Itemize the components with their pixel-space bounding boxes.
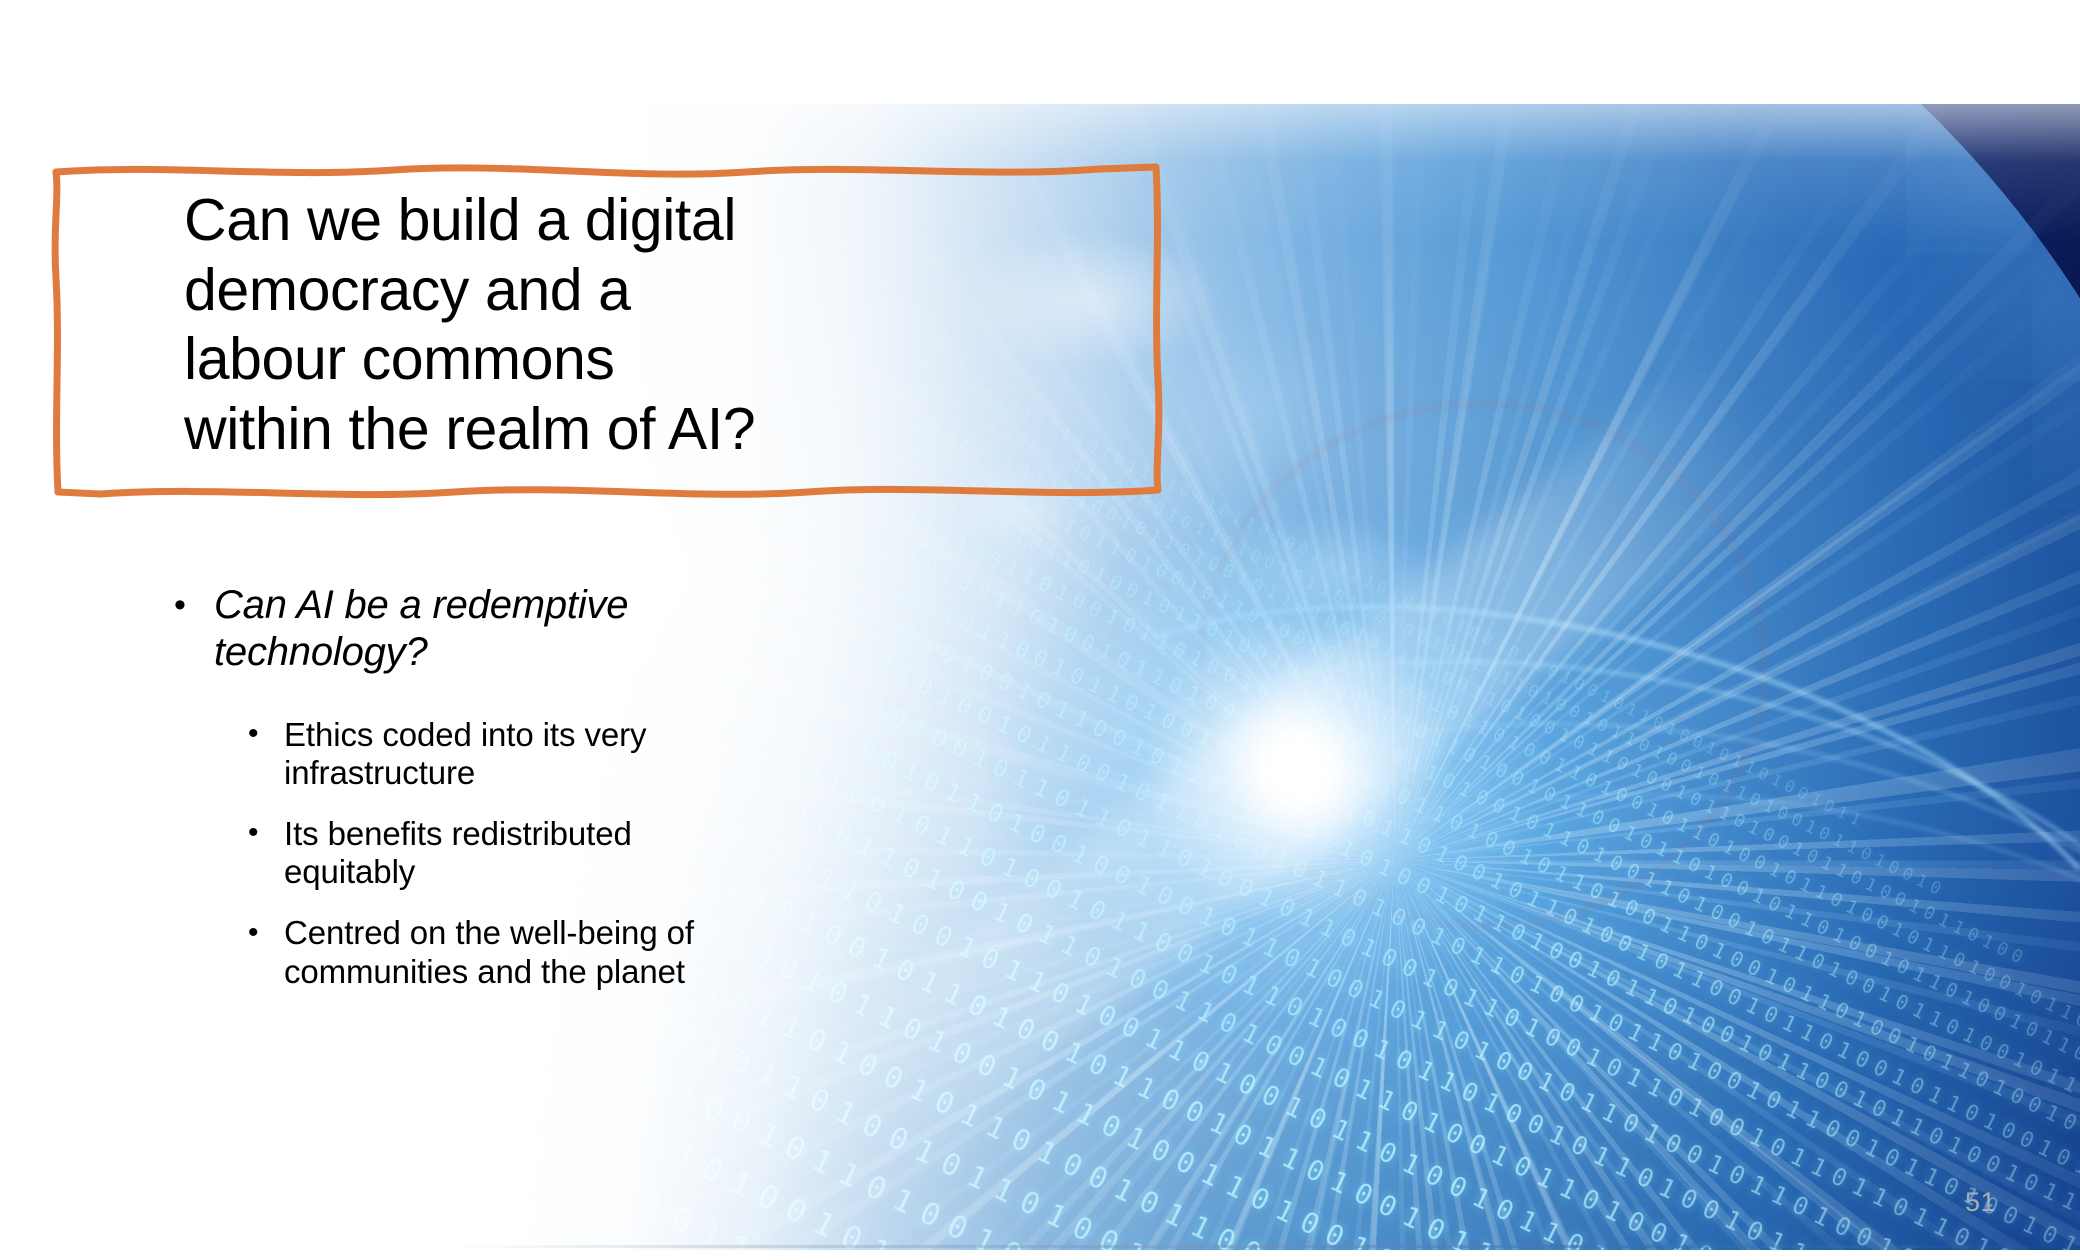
sub-bullet-list: • Ethics coded into its very infrastruct… <box>244 716 764 992</box>
title-line-1: Can we build a digital <box>184 186 1124 256</box>
bullet-level1-text: Can AI be a redemptive technology? <box>214 583 628 674</box>
sub-bullet-text-3: Centred on the well-being of communities… <box>284 914 694 990</box>
title-line-3: labour commons <box>184 325 1124 395</box>
bullet-marker-icon: • <box>248 915 258 951</box>
sub-bullet-text-2: Its benefits redistributed equitably <box>284 815 632 891</box>
title-line-2: democracy and a <box>184 256 1124 326</box>
page-title: Can we build a digital democracy and a l… <box>184 186 1124 464</box>
title-line-4: within the realm of AI? <box>184 395 1124 465</box>
bullet-marker-icon: • <box>174 584 186 628</box>
sub-bullet-text-1: Ethics coded into its very infrastructur… <box>284 716 646 792</box>
title-box: Can we build a digital democracy and a l… <box>56 162 1156 492</box>
bullet-marker-icon: • <box>248 815 258 851</box>
bullet-level1: • Can AI be a redemptive technology? <box>168 582 808 676</box>
page-number: 51 <box>1965 1187 1996 1218</box>
list-item: • Its benefits redistributed equitably <box>244 815 764 892</box>
list-item: • Ethics coded into its very infrastruct… <box>244 716 764 793</box>
bullet-marker-icon: • <box>248 716 258 752</box>
body-content: • Can AI be a redemptive technology? • E… <box>168 582 808 991</box>
list-item: • Centred on the well-being of communiti… <box>244 914 764 991</box>
image-bottom-edge <box>448 1245 2080 1248</box>
slide-canvas: 1010010100101101001011010010110100101110… <box>0 0 2080 1260</box>
